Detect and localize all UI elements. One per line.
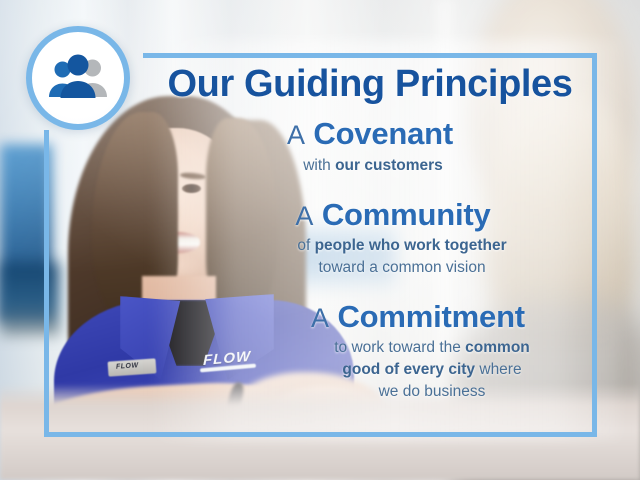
subtext-plain: with [303, 157, 335, 174]
principle-2: A Communityof people who work togetherto… [150, 197, 590, 279]
principle-subtext-line: good of every city where [274, 359, 590, 381]
principle-headline-1: A Covenant [150, 116, 590, 151]
subtext-plain: where [475, 361, 522, 378]
principle-subtext-line: to work toward the common [274, 337, 590, 359]
principle-subtext-line: toward a common vision [214, 257, 590, 279]
principle-keyword: Commitment [329, 299, 525, 334]
principle-subtext-line: we do business [274, 381, 590, 403]
principle-1: A Covenantwith our customers [150, 116, 590, 176]
principle-headline-3: A Commitment [246, 299, 590, 334]
subtext-emphasis: people who work together [315, 237, 507, 254]
principle-3: A Commitmentto work toward the commongoo… [150, 299, 590, 403]
principle-subtext-line: with our customers [156, 155, 590, 177]
content-block: Our Guiding Principles A Covenantwith ou… [150, 58, 590, 403]
principle-headline-2: A Community [196, 197, 590, 232]
principle-subtext-2: of people who work togethertoward a comm… [196, 235, 590, 279]
principle-subtext-line: of people who work together [214, 235, 590, 257]
subtext-emphasis: our customers [335, 157, 443, 174]
subtext-plain: of [297, 237, 314, 254]
slide-canvas: FLOW FLOW [0, 0, 640, 480]
principle-article: A [295, 201, 313, 231]
principle-article: A [287, 120, 305, 150]
subtext-emphasis: good of every city [342, 361, 475, 378]
photo-blue-display-left [0, 262, 60, 336]
principle-keyword: Covenant [305, 116, 453, 151]
subtext-plain: we do business [379, 383, 486, 400]
principle-keyword: Community [313, 197, 490, 232]
subtext-plain: toward a common vision [318, 259, 485, 276]
principle-subtext-1: with our customers [150, 155, 590, 177]
people-group-badge [26, 26, 130, 130]
principle-article: A [311, 303, 329, 333]
principle-subtext-3: to work toward the commongood of every c… [246, 337, 590, 403]
principles-list: A Covenantwith our customersA Communityo… [150, 116, 590, 403]
page-title: Our Guiding Principles [150, 64, 590, 104]
subtext-emphasis: common [465, 339, 530, 356]
subtext-plain: to work toward the [334, 339, 465, 356]
